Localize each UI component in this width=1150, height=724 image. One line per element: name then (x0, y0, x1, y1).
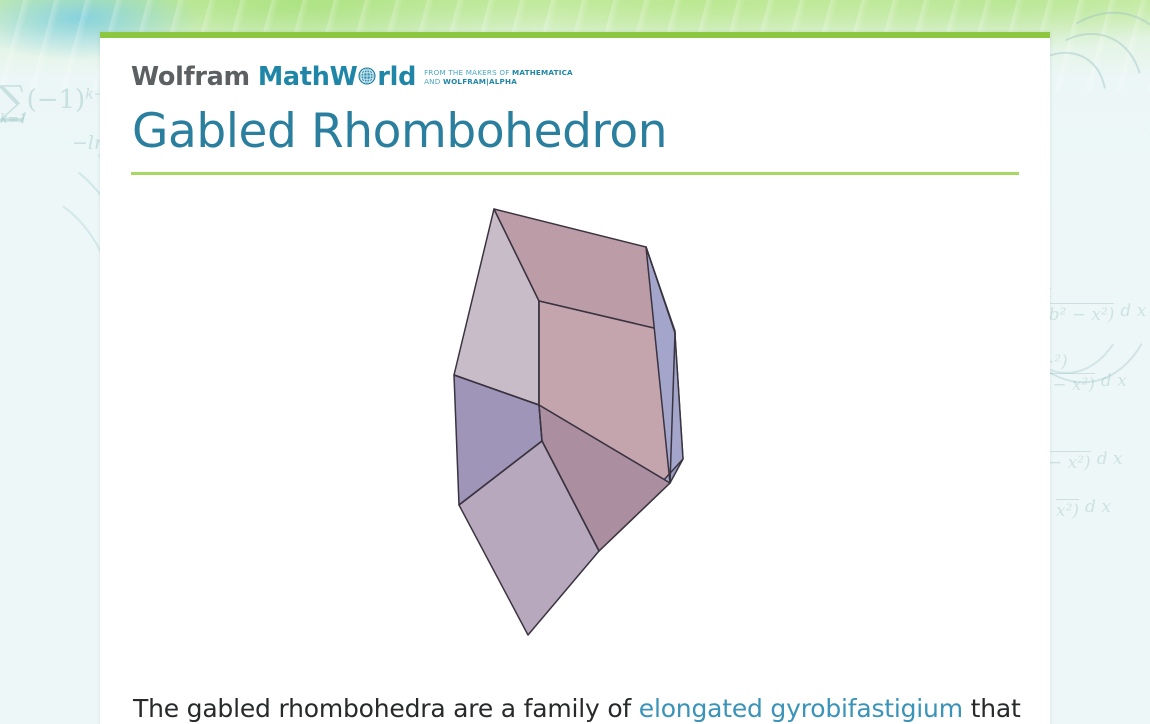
differential-dx: d x (1120, 301, 1146, 321)
logo-math-part: Math (258, 65, 330, 91)
content-card: Wolfram MathW (100, 32, 1050, 724)
logo-wolfram-text: Wolfram (131, 65, 250, 91)
fraction-numerator: x (1042, 282, 1114, 304)
background-formula-summation: ∑(−1)k−1 k=1 (0, 78, 114, 127)
fraction-denominator: (b² − x²) (1042, 304, 1114, 325)
differential-dx: d x (1101, 371, 1127, 391)
summation-term: (−1) (27, 85, 86, 115)
fraction-denominator: x²) (1056, 500, 1079, 521)
fraction-numerator (1048, 430, 1091, 452)
article-body: The gabled rhombohedra are a family of e… (133, 691, 1021, 724)
globe-icon (358, 65, 376, 83)
logo-rld-part: rld (377, 65, 416, 91)
link-elongated-gyrobifastigium[interactable]: elongated gyrobifastigium (639, 694, 963, 723)
background-formula-integral-4: x²) d x (1056, 478, 1079, 521)
fraction-numerator (1056, 478, 1079, 500)
site-logo[interactable]: Wolfram MathW (131, 60, 1020, 90)
gabled-rhombohedron-figure (426, 193, 726, 663)
logo-w-part: W (330, 65, 358, 91)
body-segment-0: The gabled rhombohedra are a family of (133, 694, 639, 723)
tagline-line-1: FROM THE MAKERS OF MATHEMATICA (424, 68, 573, 77)
fraction-denominator: − x²) (1048, 452, 1091, 473)
differential-dx: d x (1097, 449, 1123, 469)
logo-mathworld-text: MathW (258, 65, 416, 91)
background-formula-integral-3: − x²) d x (1048, 430, 1091, 473)
background-formula-integral-1: x (b² − x²) d x (1042, 282, 1114, 325)
figure-container (131, 175, 1020, 683)
page-title: Gabled Rhombohedron (132, 107, 1020, 156)
page-background: ∑(−1)k−1 k=1 −ln x (b² − x²) d x −²) ² −… (0, 0, 1150, 724)
logo-tagline: FROM THE MAKERS OF MATHEMATICA AND WOLFR… (424, 68, 573, 90)
tagline-line-2: AND WOLFRAM|ALPHA (424, 77, 517, 86)
differential-dx: d x (1085, 497, 1111, 517)
